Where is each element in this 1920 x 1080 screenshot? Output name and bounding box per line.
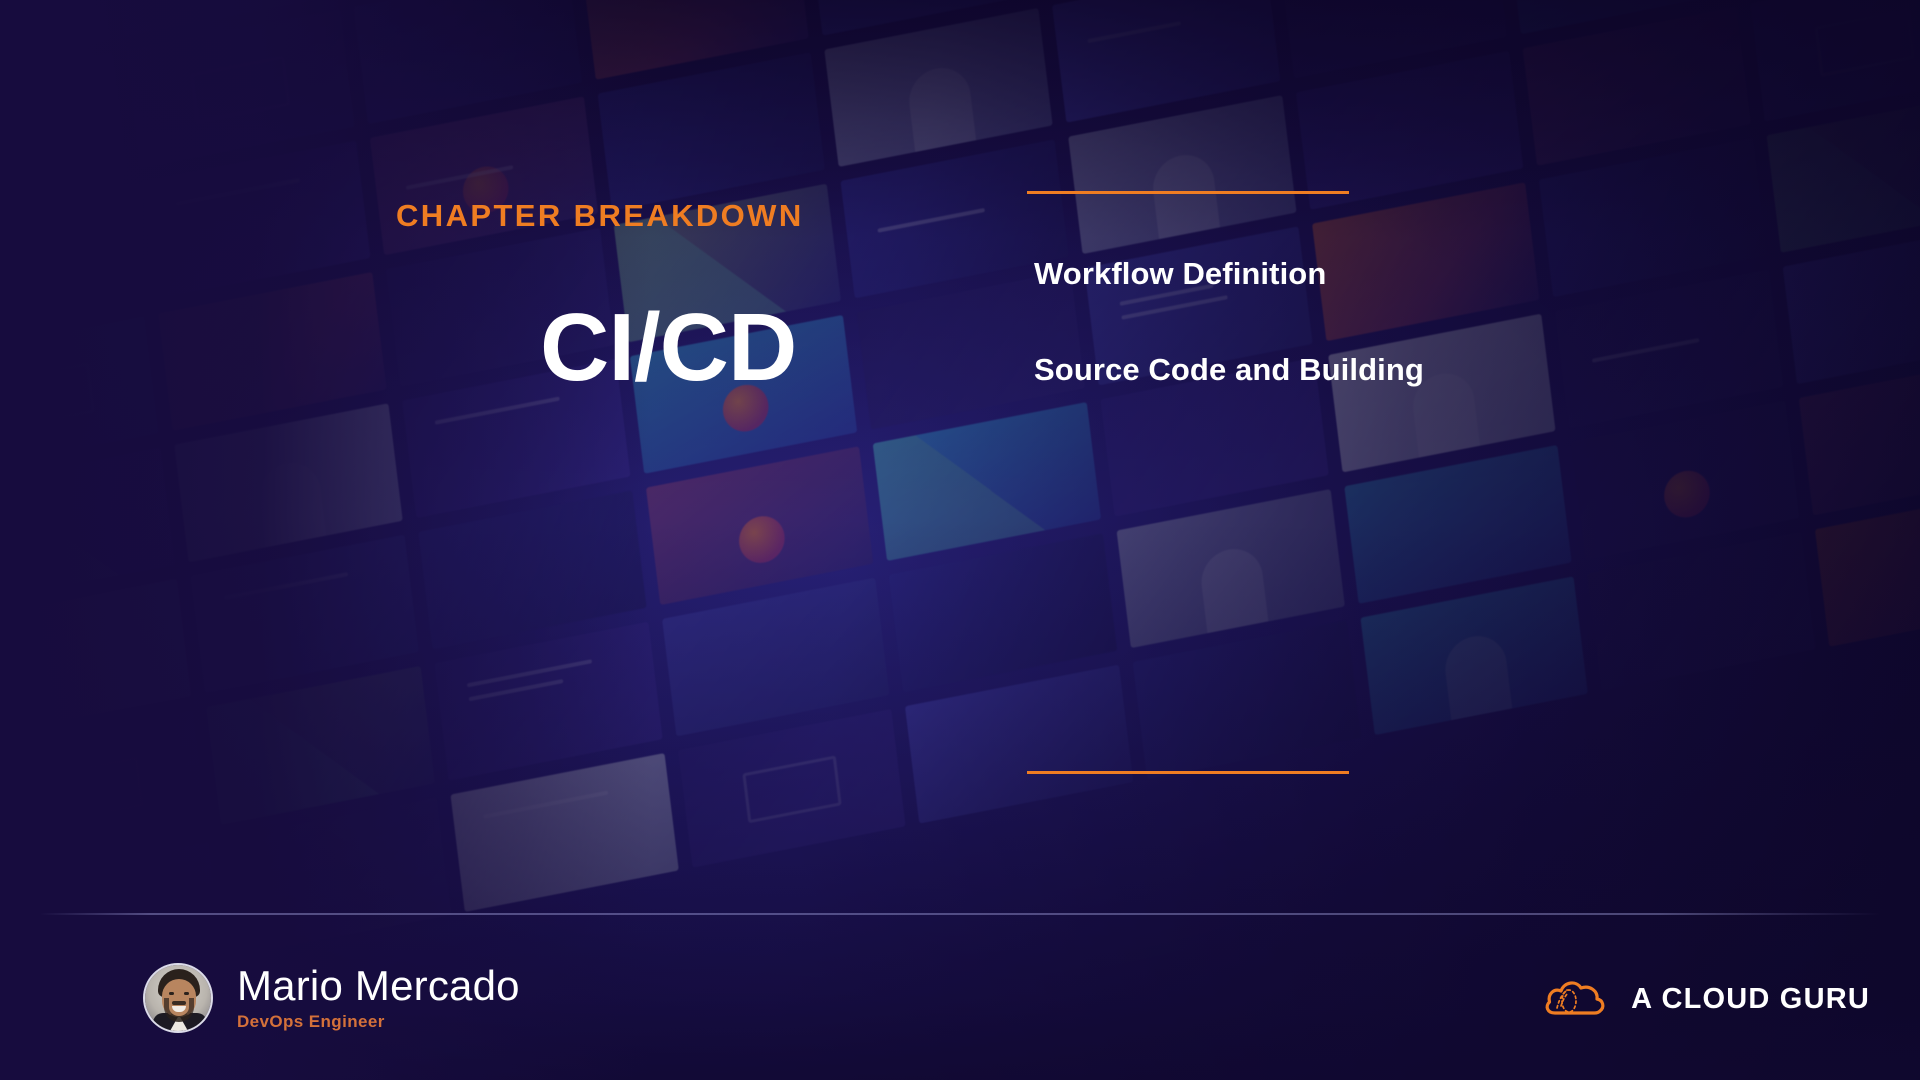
presenter-name: Mario Mercado	[237, 964, 520, 1008]
cloud-guru-logo-icon	[1543, 975, 1609, 1024]
brand-lockup: A CLOUD GURU	[1543, 975, 1870, 1024]
eyebrow-label: CHAPTER BREAKDOWN	[396, 198, 804, 234]
presentation-slide: CHAPTER BREAKDOWN CI/CD Workflow Definit…	[0, 0, 1920, 1080]
accent-rule-bottom-icon	[1027, 771, 1349, 774]
brand-name: A CLOUD GURU	[1631, 983, 1870, 1016]
footer-divider	[40, 913, 1880, 915]
avatar	[143, 963, 213, 1033]
presenter-block: Mario Mercado DevOps Engineer	[143, 963, 520, 1033]
agenda-item-workflow-definition: Workflow Definition	[1034, 256, 1326, 292]
agenda-item-source-code-and-building: Source Code and Building	[1034, 352, 1424, 388]
page-title: CI/CD	[540, 300, 796, 396]
presenter-text: Mario Mercado DevOps Engineer	[237, 964, 520, 1032]
accent-rule-top-icon	[1027, 191, 1349, 194]
slide-content: CHAPTER BREAKDOWN CI/CD Workflow Definit…	[0, 0, 1920, 1080]
presenter-role: DevOps Engineer	[237, 1012, 520, 1032]
